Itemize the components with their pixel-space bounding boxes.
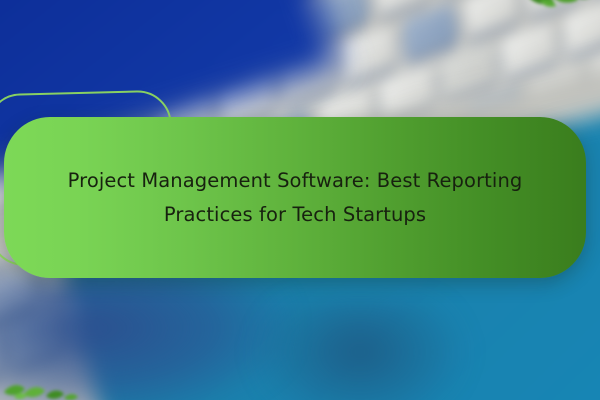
keyboard-key xyxy=(341,25,397,82)
keyboard-key xyxy=(402,3,458,60)
leaf-icon xyxy=(2,370,88,400)
hero-title-card: Project Management Software: Best Report… xyxy=(4,117,586,278)
leaf-icon xyxy=(520,0,590,28)
navy-shadow-center xyxy=(250,300,470,400)
page-title: Project Management Software: Best Report… xyxy=(45,164,545,231)
keyboard-key xyxy=(463,0,519,38)
thumbnail-canvas: Project Management Software: Best Report… xyxy=(0,0,600,400)
